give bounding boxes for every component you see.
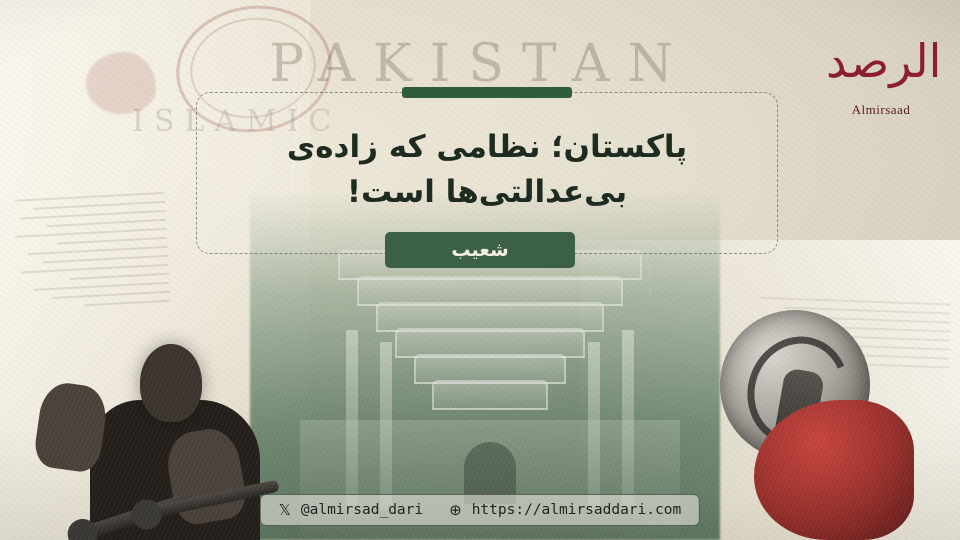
headline-text: پاکستان؛ نظامی که زاده‌ی بی‌عدالتی‌ها اس…	[227, 125, 747, 215]
globe-icon[interactable]: ⊕	[449, 503, 462, 518]
website-url[interactable]: https://almirsaddari.com	[472, 502, 682, 518]
logo-wordmark: Almirsaad	[826, 102, 936, 118]
x-twitter-icon[interactable]: 𝕏	[279, 503, 291, 518]
author-badge: شعیب	[385, 232, 575, 268]
social-media-graphic: PAKISTAN ISLAMIC	[0, 0, 960, 540]
background-watermark-title: PAKISTAN	[0, 34, 960, 94]
almirsaad-logo[interactable]: الرصد Almirsaad	[826, 22, 936, 118]
headline-accent-bar	[402, 87, 572, 98]
logo-mark-arabic: الرصد	[826, 22, 936, 100]
social-handle[interactable]: @almirsad_dari	[301, 502, 423, 518]
headline-card: پاکستان؛ نظامی که زاده‌ی بی‌عدالتی‌ها اس…	[196, 92, 778, 254]
footer-contact-bar: 𝕏 @almirsad_dari ⊕ https://almirsaddari.…	[260, 494, 700, 526]
